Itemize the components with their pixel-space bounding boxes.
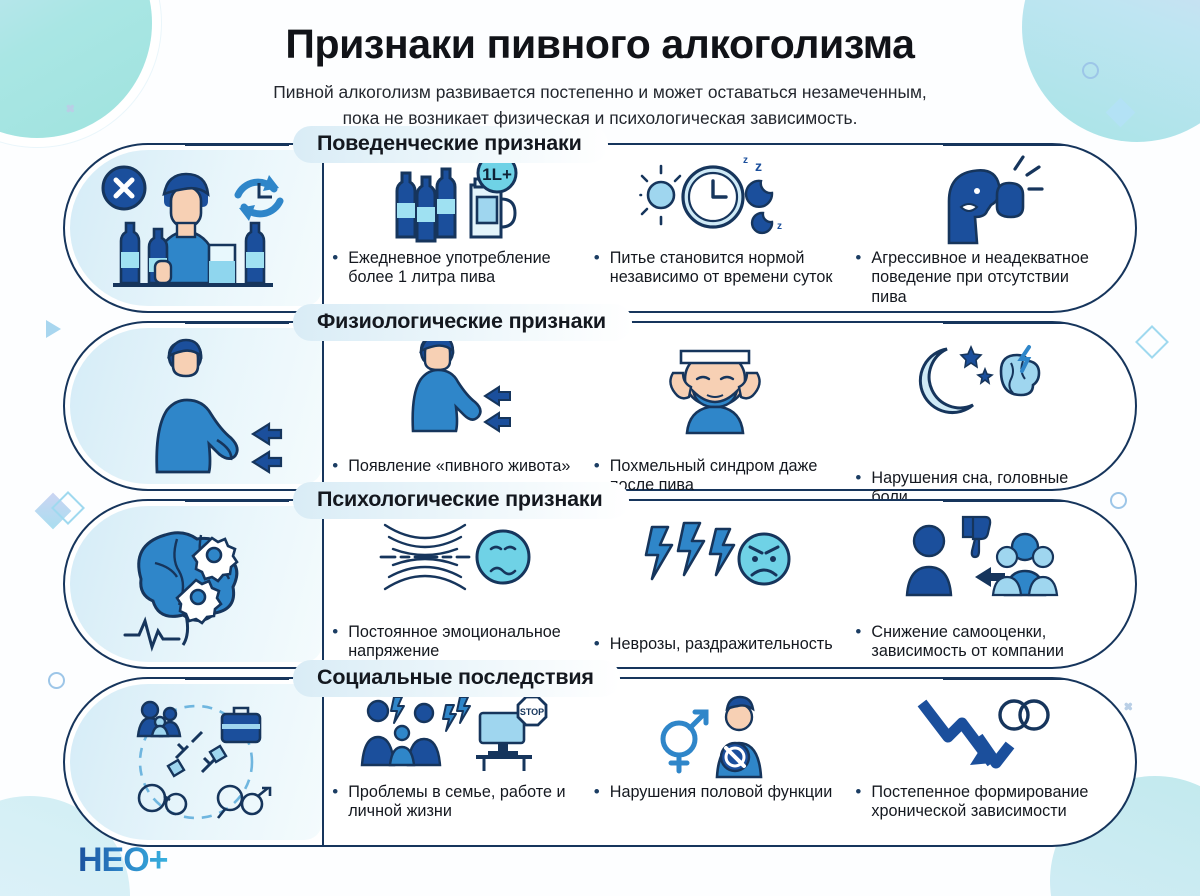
page-title: Признаки пивного алкоголизма <box>0 22 1200 66</box>
items-behavioral: 1L+ Ежедневное употребление более 1 литр… <box>324 145 1135 311</box>
section-label-dash-right <box>943 322 1065 324</box>
item-art <box>592 329 842 433</box>
item-hangover-syndrome: Похмельный синдром даже после пива <box>586 329 848 496</box>
item-text: Питье становится нормой независимо от вр… <box>592 249 842 288</box>
hero-illustration-behavioral <box>70 150 322 306</box>
items-social: STOP Проблемы в семье, работе и личной ж… <box>324 679 1135 845</box>
items-psychological: Постоянное эмоциональное напряжение <box>324 501 1135 667</box>
item-art: z z z <box>592 151 842 243</box>
page-subtitle: Пивной алкоголизм развивается постепенно… <box>0 80 1200 130</box>
item-text: Постепенное формирование хронической зав… <box>853 783 1103 822</box>
item-text: Нарушения половой функции <box>592 783 842 802</box>
low-self-esteem-group-thumbsdown-icon <box>903 515 1053 599</box>
item-text: Ежедневное употребление более 1 литра пи… <box>330 249 580 288</box>
shouting-man-fist-icon <box>913 151 1043 243</box>
sections-list: Поведенческие признаки <box>0 143 1200 847</box>
section-label-dash-right <box>943 678 1065 680</box>
subtitle-line-2: пока не возникает физическая и психологи… <box>0 106 1200 131</box>
subtitle-line-1: Пивной алкоголизм развивается постепенно… <box>0 80 1200 105</box>
broken-chain-family-work-icon <box>106 692 286 832</box>
item-neurosis-irritability: Неврозы, раздражительность <box>586 507 848 654</box>
section-title-physiological: Физиологические признаки <box>293 304 632 341</box>
beer-bottles-one-liter-mug-icon: 1L+ <box>385 155 525 243</box>
item-text: Появление «пивного живота» <box>330 457 580 476</box>
section-label-dash-left <box>185 678 289 680</box>
brand-logo: НЕО+ <box>78 841 168 880</box>
badge-sleep-z: z <box>755 158 762 174</box>
item-low-self-esteem: Снижение самооценки, зависимость от комп… <box>847 507 1109 662</box>
downward-arrow-chain-links-icon <box>908 693 1048 777</box>
items-physiological: Появление «пивного живота» <box>324 323 1135 489</box>
beer-belly-profile-arrows-icon <box>395 329 515 433</box>
item-art <box>592 685 842 777</box>
item-art: 1L+ <box>330 151 580 243</box>
item-art <box>853 507 1103 599</box>
badge-sleep-z-small: z <box>743 155 748 166</box>
tension-lines-anxious-face-icon <box>375 515 535 599</box>
item-emotional-tension: Постоянное эмоциональное напряжение <box>324 507 586 662</box>
item-art <box>330 329 580 433</box>
item-art <box>853 685 1103 777</box>
section-title-psychological: Психологические признаки <box>293 482 629 519</box>
item-text: Проблемы в семье, работе и личной жизни <box>330 783 580 822</box>
item-text: Снижение самооценки, зависимость от комп… <box>853 623 1103 662</box>
infographic-page: Признаки пивного алкоголизма Пивной алко… <box>0 0 1200 896</box>
item-art <box>853 151 1103 243</box>
section-label-dash-right <box>943 500 1065 502</box>
man-with-beer-bottles-repeat-icon <box>91 157 301 299</box>
section-label-dash-left <box>185 500 289 502</box>
section-label-dash-left <box>185 144 289 146</box>
hangover-headache-man-icon <box>657 329 777 433</box>
section-physiological: Физиологические признаки <box>63 321 1137 491</box>
hero-illustration-physiological <box>70 328 322 484</box>
item-art <box>853 329 1103 421</box>
badge-one-liter: 1L+ <box>482 165 512 184</box>
item-text: Постоянное эмоциональное напряжение <box>330 623 580 662</box>
item-text: Похмельный синдром даже после пива <box>592 457 842 496</box>
item-art <box>592 507 842 599</box>
brain-with-gears-icon <box>111 519 281 649</box>
item-art <box>330 507 580 599</box>
item-text: Неврозы, раздражительность <box>592 635 842 654</box>
gender-symbol-blocked-man-icon <box>647 693 787 777</box>
item-sleep-disorders: Нарушения сна, головные боли <box>847 329 1109 508</box>
item-art: STOP <box>330 685 580 777</box>
item-beer-belly: Появление «пивного живота» <box>324 329 586 476</box>
moon-stars-brain-insomnia-icon <box>913 341 1043 421</box>
item-drinking-any-time: z z z Питье становится нормой независимо… <box>586 151 848 288</box>
item-family-work-problems: STOP Проблемы в семье, работе и личной ж… <box>324 685 586 822</box>
section-title-social: Социальные последствия <box>293 660 620 697</box>
item-chronic-dependence: Постепенное формирование хронической зав… <box>847 685 1109 822</box>
hero-illustration-psychological <box>70 506 322 662</box>
man-with-beer-belly-arrows-icon <box>121 336 271 476</box>
section-title-behavioral: Поведенческие признаки <box>293 126 608 163</box>
header: Признаки пивного алкоголизма Пивной алко… <box>0 0 1200 131</box>
section-behavioral: Поведенческие признаки <box>63 143 1137 313</box>
lightning-angry-face-icon <box>642 519 792 599</box>
badge-sleep-z-tiny: z <box>777 221 782 232</box>
item-sexual-dysfunction: Нарушения половой функции <box>586 685 848 802</box>
section-label-dash-right <box>943 144 1065 146</box>
item-aggressive-behavior: Агрессивное и неадекватное поведение при… <box>847 151 1109 307</box>
hero-illustration-social <box>70 684 322 840</box>
item-text: Агрессивное и неадекватное поведение при… <box>853 249 1103 307</box>
clock-day-night-icon: z z z <box>637 155 797 243</box>
item-daily-consumption: 1L+ Ежедневное употребление более 1 литр… <box>324 151 586 288</box>
section-psychological: Психологические признаки <box>63 499 1137 669</box>
section-social: Социальные последствия <box>63 677 1137 847</box>
section-label-dash-left <box>185 322 289 324</box>
badge-stop: STOP <box>520 707 544 717</box>
family-conflict-work-stop-icon: STOP <box>360 693 550 777</box>
